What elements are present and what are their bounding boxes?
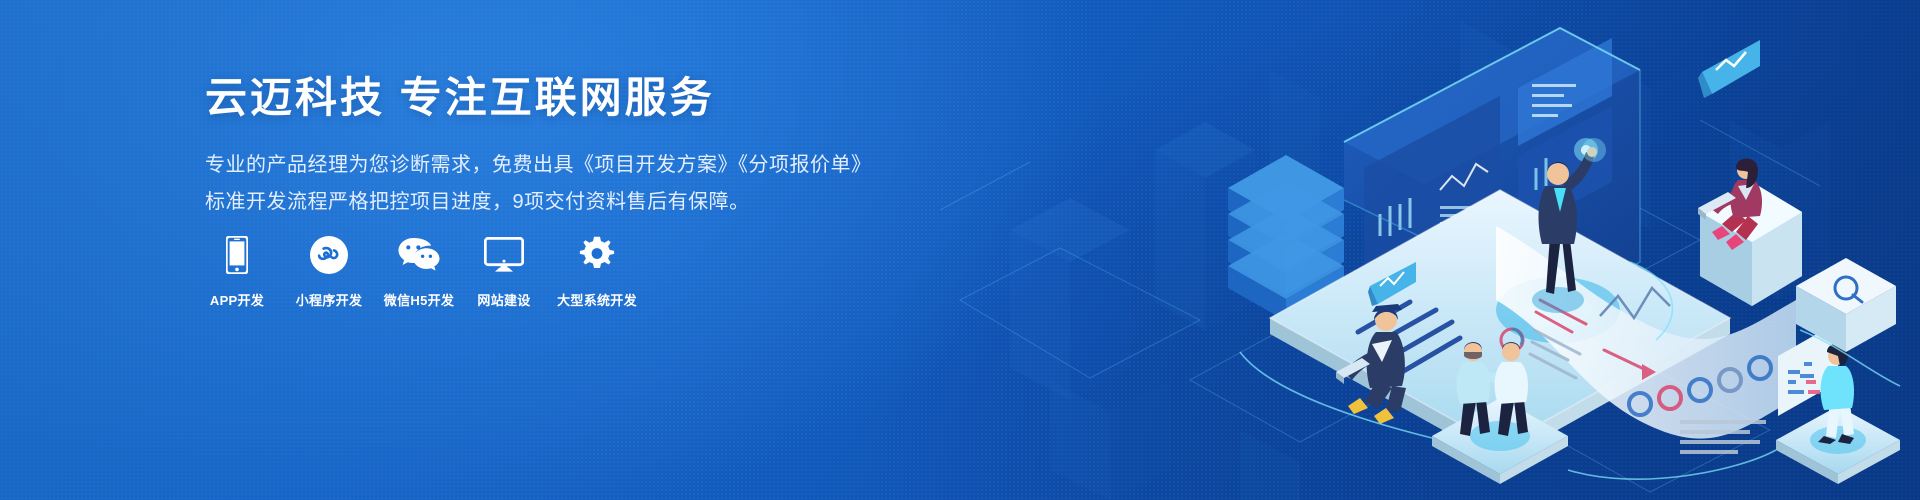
service-item-website[interactable]: 网站建设 [466, 232, 542, 309]
mini-program-icon [310, 232, 348, 278]
service-item-wechat-h5[interactable]: 微信H5开发 [376, 232, 462, 309]
gear-icon [578, 232, 616, 278]
service-list: APP开发 小程序开发 [200, 232, 646, 309]
isometric-technology-illustration [940, 0, 1920, 500]
service-label: 网站建设 [477, 290, 530, 309]
service-label: 微信H5开发 [384, 290, 454, 309]
subtitle-line-1: 专业的产品经理为您诊断需求，免费出具《项目开发方案》《分项报价单》 [205, 148, 965, 183]
service-item-app[interactable]: APP开发 [200, 232, 274, 309]
wechat-icon [397, 232, 441, 278]
hero-banner: 云迈科技 专注互联网服务 专业的产品经理为您诊断需求，免费出具《项目开发方案》《… [0, 0, 1920, 500]
service-label: APP开发 [210, 290, 264, 309]
banner-content: 云迈科技 专注互联网服务 专业的产品经理为您诊断需求，免费出具《项目开发方案》《… [205, 74, 965, 220]
service-item-mini-program[interactable]: 小程序开发 [286, 232, 372, 309]
floating-chart-card [1698, 40, 1760, 98]
service-item-large-system[interactable]: 大型系统开发 [548, 232, 646, 309]
monitor-icon [484, 232, 524, 278]
service-label: 大型系统开发 [557, 290, 637, 309]
mobile-phone-icon [226, 232, 248, 278]
subtitle-line-2: 标准开发流程严格把控项目进度，9项交付资料售后有保障。 [205, 185, 965, 220]
service-label: 小程序开发 [296, 290, 363, 309]
page-title: 云迈科技 专注互联网服务 [205, 74, 965, 122]
